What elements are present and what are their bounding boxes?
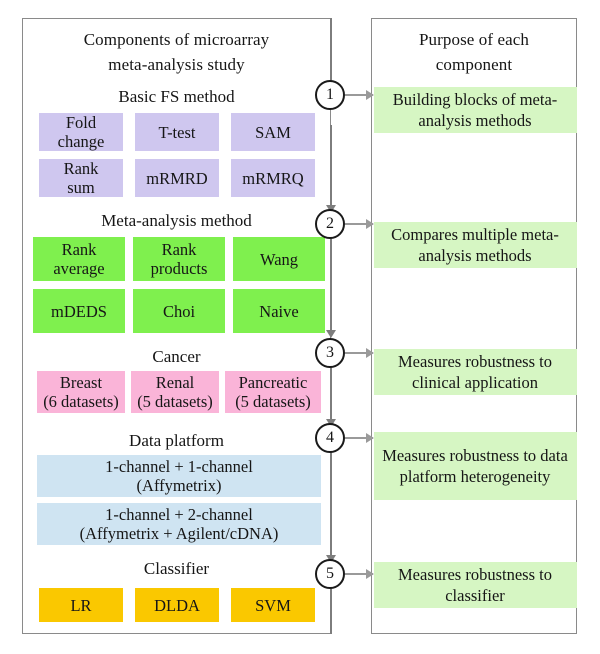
tile-line1: DLDA xyxy=(154,596,200,615)
section-heading-classifier: Classifier xyxy=(23,559,330,579)
left-panel-components: Components of microarray meta-analysis s… xyxy=(22,18,331,634)
purpose-line1: Compares multiple xyxy=(391,225,517,244)
tile-line2: (6 datasets) xyxy=(43,392,119,411)
tile-line2: sum xyxy=(64,178,99,197)
component-tile-rank-average[interactable]: Rank average xyxy=(33,237,125,281)
step-number: 3 xyxy=(326,345,334,361)
tile-line1: mDEDS xyxy=(51,302,107,321)
connector-arrowhead-4 xyxy=(366,433,374,443)
tile-line2: products xyxy=(151,259,208,278)
step-number: 2 xyxy=(326,216,334,232)
connector-arrowhead-1 xyxy=(366,90,374,100)
connector-arrowhead-3 xyxy=(366,348,374,358)
connector-arrowhead-2 xyxy=(366,219,374,229)
purpose-band-building-blocks[interactable]: Building blocks of meta-analysis methods xyxy=(374,87,577,133)
tile-line1: Renal xyxy=(137,373,213,392)
tile-line1: Rank xyxy=(53,240,104,259)
step-circle-3[interactable]: 3 xyxy=(315,338,345,368)
tile-line1: 1-channel + 1-channel xyxy=(105,457,253,476)
tile-line1: Rank xyxy=(64,159,99,178)
tile-line1: Pancreatic xyxy=(235,373,311,392)
purpose-band-data-platform-heterogeneity[interactable]: Measures robustness to data platform het… xyxy=(374,432,577,500)
section-heading-data-platform: Data platform xyxy=(23,431,330,451)
tile-line1: SVM xyxy=(255,596,291,615)
spine-segment-2-3 xyxy=(330,232,332,334)
right-panel-title-line2: component xyxy=(372,52,576,77)
component-tile-sam[interactable]: SAM xyxy=(231,113,315,151)
component-tile-mrmrd[interactable]: mRMRD xyxy=(135,159,219,197)
tile-line1: Breast xyxy=(43,373,119,392)
tile-line1: Fold xyxy=(58,113,105,132)
purpose-line1: Measures robustness xyxy=(398,565,535,584)
component-tile-mrmrq[interactable]: mRMRQ xyxy=(231,159,315,197)
component-tile-one-channel-one-channel[interactable]: 1-channel + 1-channel (Affymetrix) xyxy=(37,455,321,497)
component-tile-naive[interactable]: Naive xyxy=(233,289,325,333)
tile-line1: Naive xyxy=(259,302,298,321)
purpose-line1: Measures robustness xyxy=(382,446,519,465)
step-circle-1[interactable]: 1 xyxy=(315,80,345,110)
component-tile-svm[interactable]: SVM xyxy=(231,588,315,622)
step-number: 5 xyxy=(326,566,334,582)
tile-line1: mRMRQ xyxy=(242,169,303,188)
purpose-band-clinical-application[interactable]: Measures robustness to clinical applicat… xyxy=(374,349,577,395)
component-tile-fold-change[interactable]: Fold change xyxy=(39,113,123,151)
tile-line1: 1-channel + 2-channel xyxy=(80,505,279,524)
right-panel-purposes: Purpose of each component Building block… xyxy=(371,18,577,634)
spine-segment-3-4 xyxy=(330,361,332,423)
component-tile-mdeds[interactable]: mDEDS xyxy=(33,289,125,333)
step-number: 1 xyxy=(326,87,334,103)
left-panel-title-line2: meta-analysis study xyxy=(23,52,330,77)
component-tile-t-test[interactable]: T-test xyxy=(135,113,219,151)
component-tile-pancreatic[interactable]: Pancreatic (5 datasets) xyxy=(225,371,321,413)
component-tile-lr[interactable]: LR xyxy=(39,588,123,622)
step-number: 4 xyxy=(326,430,334,446)
component-tile-choi[interactable]: Choi xyxy=(133,289,225,333)
tile-line1: Wang xyxy=(260,250,298,269)
tile-line2: (Affymetrix + Agilent/cDNA) xyxy=(80,524,279,543)
tile-line1: T-test xyxy=(159,123,196,142)
section-heading-basic-fs-method: Basic FS method xyxy=(23,87,330,107)
tile-line1: mRMRD xyxy=(146,169,207,188)
tile-line2: average xyxy=(53,259,104,278)
step-circle-2[interactable]: 2 xyxy=(315,209,345,239)
flow-diagram: Components of microarray meta-analysis s… xyxy=(0,0,600,654)
component-tile-renal[interactable]: Renal (5 datasets) xyxy=(131,371,219,413)
left-panel-title-line1: Components of microarray xyxy=(23,27,330,52)
tile-line2: (5 datasets) xyxy=(137,392,213,411)
spine-segment-4-5 xyxy=(330,446,332,559)
tile-line2: (Affymetrix) xyxy=(105,476,253,495)
tile-line2: (5 datasets) xyxy=(235,392,311,411)
spine-arrowhead-3 xyxy=(326,330,336,338)
right-panel-title-line1: Purpose of each xyxy=(372,27,576,52)
tile-line1: SAM xyxy=(255,123,291,142)
component-tile-one-channel-two-channel[interactable]: 1-channel + 2-channel (Affymetrix + Agil… xyxy=(37,503,321,545)
section-heading-meta-analysis-method: Meta-analysis method xyxy=(23,211,330,231)
component-tile-wang[interactable]: Wang xyxy=(233,237,325,281)
tile-line1: Rank xyxy=(151,240,208,259)
component-tile-breast[interactable]: Breast (6 datasets) xyxy=(37,371,125,413)
step-circle-4[interactable]: 4 xyxy=(315,423,345,453)
component-tile-rank-sum[interactable]: Rank sum xyxy=(39,159,123,197)
purpose-line1: Measures robustness xyxy=(398,352,535,371)
component-tile-rank-products[interactable]: Rank products xyxy=(133,237,225,281)
tile-line2: change xyxy=(58,132,105,151)
spine-segment-bottom xyxy=(330,582,332,634)
section-heading-cancer: Cancer xyxy=(23,347,330,367)
purpose-band-classifier-robustness[interactable]: Measures robustness to classifier xyxy=(374,562,577,608)
tile-line1: Choi xyxy=(163,302,195,321)
purpose-line1: Building blocks of xyxy=(393,90,516,109)
step-circle-5[interactable]: 5 xyxy=(315,559,345,589)
purpose-line3: heterogeneity xyxy=(461,467,551,486)
component-tile-dlda[interactable]: DLDA xyxy=(135,588,219,622)
spine-segment-1-2 xyxy=(330,125,332,209)
tile-line1: LR xyxy=(70,596,91,615)
purpose-band-compares-multiple[interactable]: Compares multiple meta-analysis methods xyxy=(374,222,577,268)
connector-arrowhead-5 xyxy=(366,569,374,579)
